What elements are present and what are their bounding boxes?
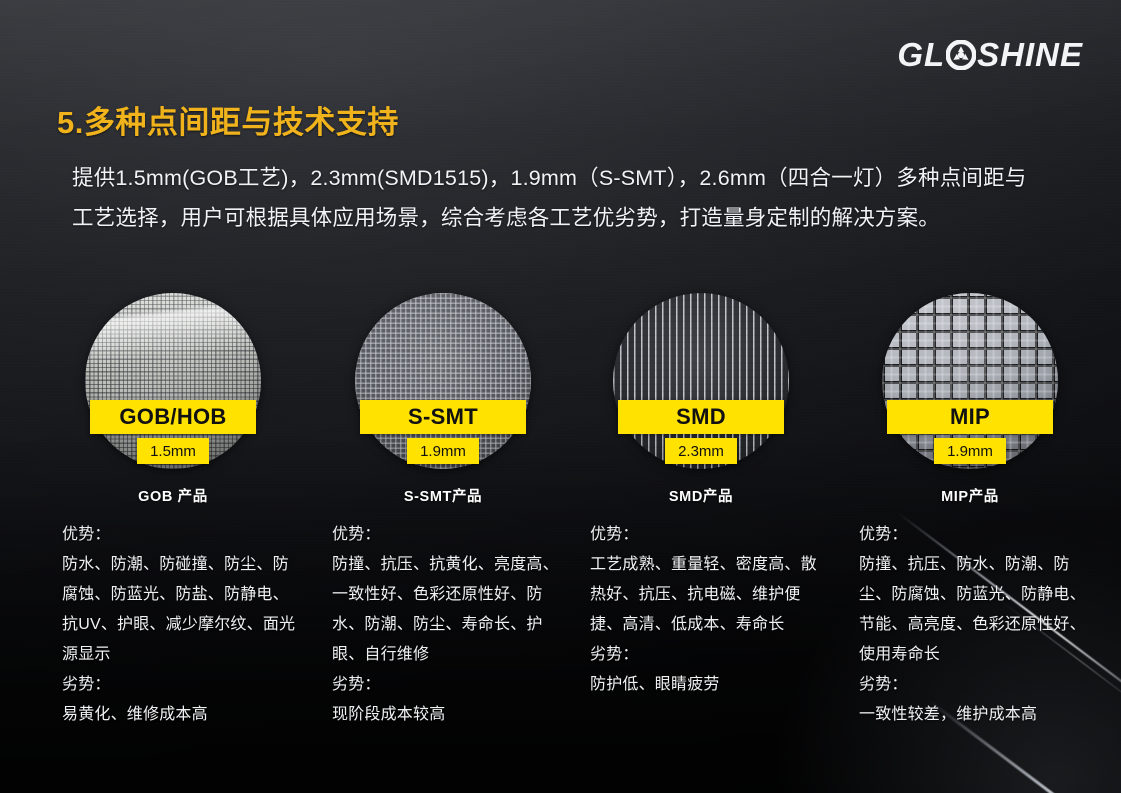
product-visual-mip: MIP 1.9mm MIP产品 <box>845 293 1095 488</box>
gloshine-logo: GL SHINE <box>897 38 1083 71</box>
product-badge-smd: SMD <box>618 400 784 434</box>
product-caption-smd: SMD产品 <box>576 485 826 506</box>
pros-text-mip: 防撞、抗压、防水、防潮、防尘、防腐蚀、防蓝光、防静电、节能、高亮度、色彩还原性好… <box>859 550 1099 670</box>
pros-text-gob: 防水、防潮、防碰撞、防尘、防腐蚀、防蓝光、防盐、防静电、抗UV、护眼、减少摩尔纹… <box>62 550 302 670</box>
logo-text-right: SHINE <box>977 38 1083 71</box>
pitch-badge-gob: 1.5mm <box>137 438 209 464</box>
product-details-smd: 优势： 工艺成熟、重量轻、密度高、散热好、抗压、抗电磁、维护便捷、高清、低成本、… <box>590 520 830 700</box>
product-details-ssmt: 优势： 防撞、抗压、抗黄化、亮度高、一致性好、色彩还原性好、防水、防潮、防尘、寿… <box>332 520 572 730</box>
logo-propeller-icon <box>946 40 976 70</box>
pros-label-smd: 优势： <box>590 520 830 550</box>
cons-text-mip: 一致性较差，维护成本高 <box>859 700 1099 730</box>
product-visual-smd: SMD 2.3mm SMD产品 <box>576 293 826 488</box>
product-column-mip: MIP 1.9mm MIP产品 优势： 防撞、抗压、防水、防潮、防尘、防腐蚀、防… <box>845 293 1095 488</box>
logo-text-left: GL <box>897 38 945 71</box>
logo-wordmark: GL SHINE <box>897 38 1083 71</box>
cons-text-ssmt: 现阶段成本较高 <box>332 700 572 730</box>
product-visual-gob: GOB/HOB 1.5mm GOB 产品 <box>48 293 298 488</box>
pros-label-mip: 优势： <box>859 520 1099 550</box>
product-column-gob: GOB/HOB 1.5mm GOB 产品 优势： 防水、防潮、防碰撞、防尘、防腐… <box>48 293 298 488</box>
product-visual-ssmt: S-SMT 1.9mm S-SMT产品 <box>318 293 568 488</box>
product-column-ssmt: S-SMT 1.9mm S-SMT产品 优势： 防撞、抗压、抗黄化、亮度高、一致… <box>318 293 568 488</box>
presentation-slide: GL SHINE 5.多种点间距与技术支持 提供1.5mm(GOB工艺)，2.3… <box>0 0 1121 793</box>
pros-label-ssmt: 优势： <box>332 520 572 550</box>
page-title: 5.多种点间距与技术支持 <box>57 97 399 142</box>
pitch-badge-smd: 2.3mm <box>665 438 737 464</box>
cons-text-gob: 易黄化、维修成本高 <box>62 700 302 730</box>
product-details-gob: 优势： 防水、防潮、防碰撞、防尘、防腐蚀、防蓝光、防盐、防静电、抗UV、护眼、减… <box>62 520 302 730</box>
product-column-smd: SMD 2.3mm SMD产品 优势： 工艺成熟、重量轻、密度高、散热好、抗压、… <box>576 293 826 488</box>
cons-label-ssmt: 劣势： <box>332 670 572 700</box>
product-details-mip: 优势： 防撞、抗压、防水、防潮、防尘、防腐蚀、防蓝光、防静电、节能、高亮度、色彩… <box>859 520 1099 730</box>
pros-text-smd: 工艺成熟、重量轻、密度高、散热好、抗压、抗电磁、维护便捷、高清、低成本、寿命长 <box>590 550 830 640</box>
cons-label-gob: 劣势： <box>62 670 302 700</box>
pros-text-ssmt: 防撞、抗压、抗黄化、亮度高、一致性好、色彩还原性好、防水、防潮、防尘、寿命长、护… <box>332 550 572 670</box>
pros-label-gob: 优势： <box>62 520 302 550</box>
cons-text-smd: 防护低、眼睛疲劳 <box>590 670 830 700</box>
pitch-badge-ssmt: 1.9mm <box>407 438 479 464</box>
cons-label-mip: 劣势： <box>859 670 1099 700</box>
product-badge-ssmt: S-SMT <box>360 400 526 434</box>
pitch-badge-mip: 1.9mm <box>934 438 1006 464</box>
product-badge-gob: GOB/HOB <box>90 400 256 434</box>
product-caption-ssmt: S-SMT产品 <box>318 485 568 506</box>
product-caption-mip: MIP产品 <box>845 485 1095 506</box>
product-badge-mip: MIP <box>887 400 1053 434</box>
product-caption-gob: GOB 产品 <box>48 485 298 506</box>
cons-label-smd: 劣势： <box>590 640 830 670</box>
intro-paragraph: 提供1.5mm(GOB工艺)，2.3mm(SMD1515)，1.9mm（S-SM… <box>72 158 1047 238</box>
